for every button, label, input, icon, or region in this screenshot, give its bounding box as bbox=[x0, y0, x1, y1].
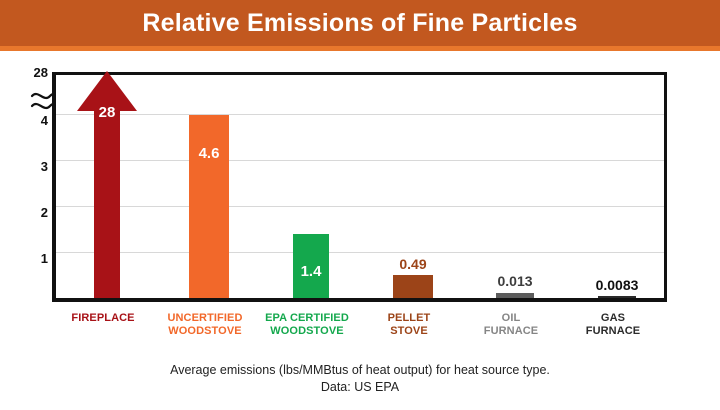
chart-page: Relative Emissions of Fine Particles 28 … bbox=[0, 0, 720, 410]
category-label-epa-certified-woodstove-line2: WOODSTOVE bbox=[256, 325, 358, 338]
pellet-stove-rect bbox=[393, 275, 433, 298]
bar-value-pellet-stove: 0.49 bbox=[399, 256, 426, 272]
plot-inner: 28 4.6 1.4 0.49 0.013 bbox=[56, 75, 664, 298]
chart-caption: Average emissions (lbs/MMBtus of heat ou… bbox=[0, 362, 720, 396]
bar-fireplace[interactable]: 28 bbox=[56, 71, 158, 298]
bar-pellet-stove[interactable]: 0.49 bbox=[362, 71, 464, 298]
bar-value-fireplace: 28 bbox=[99, 104, 116, 121]
category-label-uncertified-woodstove-line2: WOODSTOVE bbox=[154, 325, 256, 338]
caption-line-1: Average emissions (lbs/MMBtus of heat ou… bbox=[0, 362, 720, 379]
bar-gas-furnace[interactable]: 0.0083 bbox=[566, 71, 668, 298]
category-label-fireplace-line1: FIREPLACE bbox=[71, 312, 134, 324]
y-tick-2: 2 bbox=[14, 206, 48, 219]
category-label-epa-certified-woodstove-line1: EPA CERTIFIED bbox=[265, 312, 349, 324]
category-label-pellet-stove-line1: PELLET bbox=[388, 312, 431, 324]
y-tick-28: 28 bbox=[14, 66, 48, 79]
category-label-pellet-stove-line2: STOVE bbox=[358, 325, 460, 338]
category-label-gas-furnace: GAS FURNACE bbox=[562, 312, 664, 338]
gas-furnace-rect bbox=[598, 296, 636, 298]
bar-value-oil-furnace: 0.013 bbox=[497, 273, 532, 289]
category-label-fireplace: FIREPLACE bbox=[52, 312, 154, 325]
page-title: Relative Emissions of Fine Particles bbox=[0, 0, 720, 46]
bar-uncertified-woodstove[interactable]: 4.6 bbox=[158, 71, 260, 298]
plot-area: 28 4.6 1.4 0.49 0.013 bbox=[52, 72, 667, 302]
bar-oil-furnace[interactable]: 0.013 bbox=[464, 71, 566, 298]
bar-value-gas-furnace: 0.0083 bbox=[596, 277, 639, 293]
bar-epa-certified-woodstove[interactable]: 1.4 bbox=[260, 71, 362, 298]
category-label-oil-furnace-line1: OIL bbox=[502, 312, 521, 324]
category-label-gas-furnace-line2: FURNACE bbox=[562, 325, 664, 338]
bar-value-uncertified-woodstove: 4.6 bbox=[199, 145, 220, 162]
y-tick-1: 1 bbox=[14, 252, 48, 265]
category-label-epa-certified-woodstove: EPA CERTIFIED WOODSTOVE bbox=[256, 312, 358, 338]
category-label-uncertified-woodstove: UNCERTIFIED WOODSTOVE bbox=[154, 312, 256, 338]
category-label-oil-furnace: OIL FURNACE bbox=[460, 312, 562, 338]
category-label-uncertified-woodstove-line1: UNCERTIFIED bbox=[167, 312, 242, 324]
category-label-oil-furnace-line2: FURNACE bbox=[460, 325, 562, 338]
oil-furnace-rect bbox=[496, 293, 534, 298]
category-label-pellet-stove: PELLET STOVE bbox=[358, 312, 460, 338]
uncertified-woodstove-rect bbox=[189, 115, 229, 298]
caption-line-2: Data: US EPA bbox=[0, 379, 720, 396]
category-label-gas-furnace-line1: GAS bbox=[601, 312, 625, 324]
header-accent-stripe bbox=[0, 46, 720, 51]
x-axis-categories: FIREPLACE UNCERTIFIED WOODSTOVE EPA CERT… bbox=[52, 312, 667, 352]
bar-value-epa-certified-woodstove: 1.4 bbox=[301, 263, 322, 280]
y-tick-3: 3 bbox=[14, 160, 48, 173]
